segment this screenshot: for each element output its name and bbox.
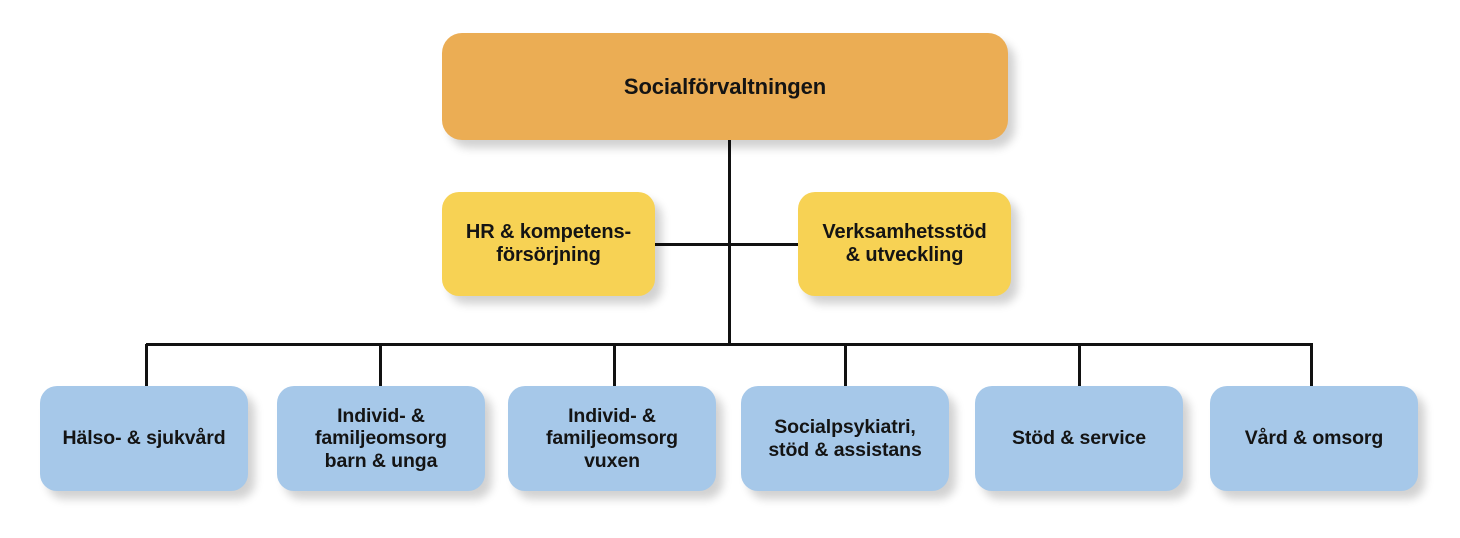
org-node-label: Stöd & service <box>1012 427 1146 450</box>
org-node-root[interactable]: Socialförvaltningen <box>442 33 1008 140</box>
org-node-staff-1[interactable]: Verksamhetsstöd & utveckling <box>798 192 1011 296</box>
connector-drop-2 <box>613 344 616 389</box>
org-node-label: Individ- & familjeomsorg barn & unga <box>315 405 447 473</box>
org-node-label: Socialpsykiatri, stöd & assistans <box>768 416 921 461</box>
org-node-unit-4[interactable]: Stöd & service <box>975 386 1183 491</box>
connector-drop-0 <box>145 344 148 389</box>
org-node-label: Socialförvaltningen <box>624 74 826 100</box>
connector-staff-left <box>655 243 729 246</box>
org-node-unit-5[interactable]: Vård & omsorg <box>1210 386 1418 491</box>
org-chart: Socialförvaltningen HR & kompetens- förs… <box>0 0 1460 538</box>
org-node-unit-1[interactable]: Individ- & familjeomsorg barn & unga <box>277 386 485 491</box>
connector-staff-right <box>729 243 798 246</box>
org-node-unit-2[interactable]: Individ- & familjeomsorg vuxen <box>508 386 716 491</box>
org-node-label: Individ- & familjeomsorg vuxen <box>546 405 678 473</box>
org-node-label: HR & kompetens- försörjning <box>466 221 631 267</box>
org-node-label: Hälso- & sjukvård <box>62 427 225 450</box>
connector-drop-3 <box>844 344 847 389</box>
org-node-unit-0[interactable]: Hälso- & sjukvård <box>40 386 248 491</box>
org-node-label: Verksamhetsstöd & utveckling <box>822 221 986 267</box>
connector-drop-5 <box>1310 344 1313 389</box>
connector-drop-4 <box>1078 344 1081 389</box>
org-node-unit-3[interactable]: Socialpsykiatri, stöd & assistans <box>741 386 949 491</box>
org-node-staff-0[interactable]: HR & kompetens- försörjning <box>442 192 655 296</box>
connector-drop-1 <box>379 344 382 389</box>
org-node-label: Vård & omsorg <box>1245 427 1383 450</box>
connector-bus <box>146 343 1313 346</box>
